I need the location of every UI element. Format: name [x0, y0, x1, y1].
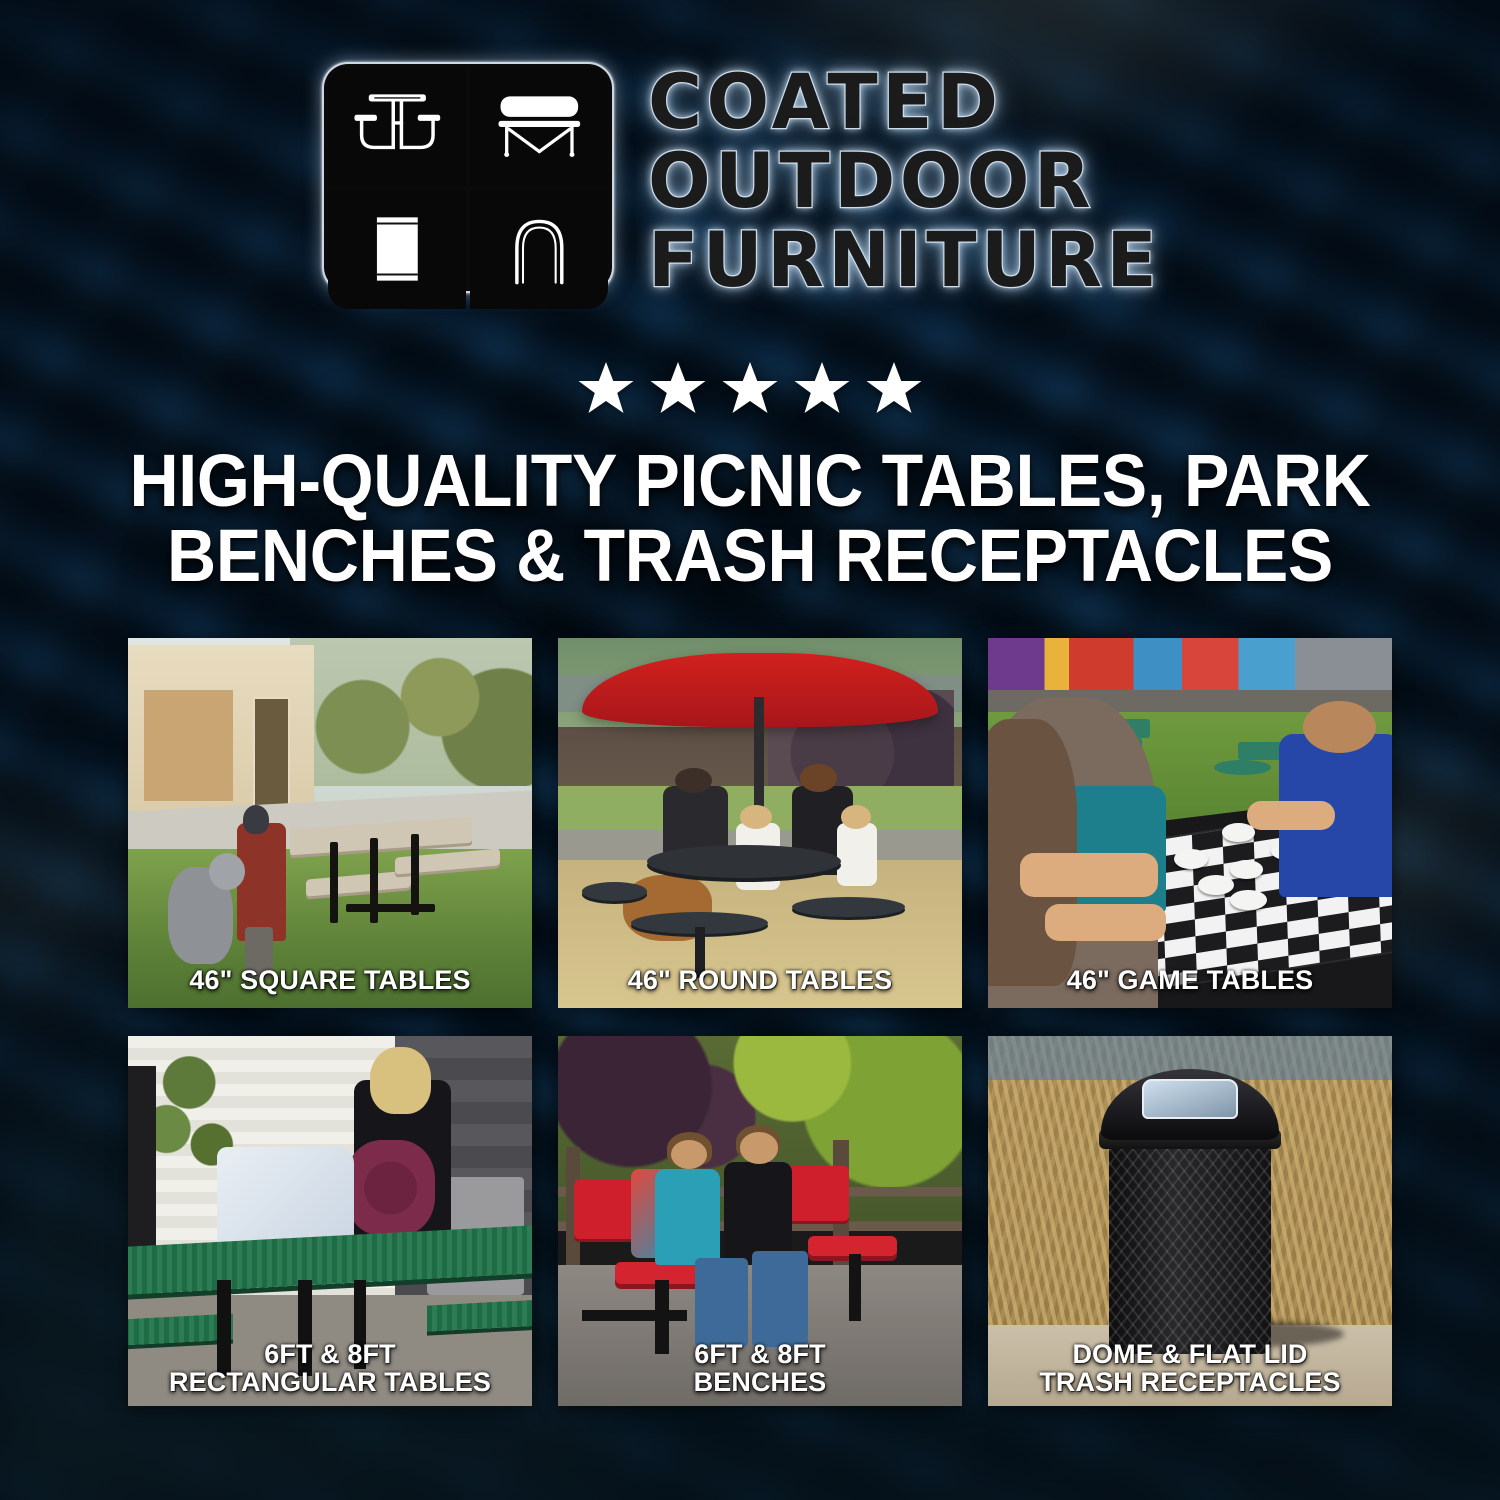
trash-receptacle-icon: [328, 191, 466, 310]
product-caption-round-tables: 46" ROUND TABLES: [558, 966, 962, 994]
star-icon: [863, 358, 925, 418]
caption-line-1: 46" SQUARE TABLES: [189, 965, 470, 995]
caption-line-1: 46" GAME TABLES: [1067, 965, 1313, 995]
bike-rack-arch-icon: [470, 191, 608, 310]
caption-line-2: RECTANGULAR TABLES: [136, 1368, 524, 1396]
star-icon: [719, 358, 781, 418]
product-card-trash-receptacles[interactable]: DOME & FLAT LID TRASH RECEPTACLES: [988, 1036, 1392, 1406]
product-caption-trash-receptacles: DOME & FLAT LID TRASH RECEPTACLES: [988, 1340, 1392, 1396]
brand-name-line-2: OUTDOOR: [648, 145, 1161, 218]
brand-name-line-1: COATED: [648, 66, 1161, 139]
product-photo-game-tables: [988, 638, 1392, 1008]
product-photo-square-tables: [128, 638, 532, 1008]
product-card-square-tables[interactable]: 46" SQUARE TABLES: [128, 638, 532, 1008]
brand-wordmark: COATED OUTDOOR FURNITURE: [648, 62, 1177, 303]
caption-line-1: 46" ROUND TABLES: [628, 965, 893, 995]
page-title: HIGH-QUALITY PICNIC TABLES, PARK BENCHES…: [60, 443, 1440, 594]
caption-line-1: 6FT & 8FT: [694, 1339, 825, 1369]
company-logo-mark: [322, 62, 614, 293]
product-card-benches[interactable]: 6FT & 8FT BENCHES: [558, 1036, 962, 1406]
caption-line-1: 6FT & 8FT: [264, 1339, 395, 1369]
product-caption-game-tables: 46" GAME TABLES: [988, 966, 1392, 994]
product-card-game-tables[interactable]: 46" GAME TABLES: [988, 638, 1392, 1008]
caption-line-1: DOME & FLAT LID: [1072, 1339, 1307, 1369]
star-icon: [575, 358, 637, 418]
bench-icon: [470, 68, 608, 187]
product-photo-round-tables: [558, 638, 962, 1008]
product-card-round-tables[interactable]: 46" ROUND TABLES: [558, 638, 962, 1008]
brand-name-line-3: FURNITURE: [648, 224, 1161, 297]
star-rating: [0, 358, 1500, 418]
star-icon: [791, 358, 853, 418]
picnic-table-icon: [328, 68, 466, 187]
brand-header: COATED OUTDOOR FURNITURE: [0, 62, 1500, 303]
star-icon: [647, 358, 709, 418]
product-grid: 46" SQUARE TABLES: [128, 638, 1396, 1406]
promo-banner: COATED OUTDOOR FURNITURE HIGH-QUALITY PI…: [0, 0, 1500, 1500]
product-card-rectangular-tables[interactable]: 6FT & 8FT RECTANGULAR TABLES: [128, 1036, 532, 1406]
headline-line-2: BENCHES & TRASH RECEPTACLES: [60, 518, 1440, 593]
caption-line-2: TRASH RECEPTACLES: [996, 1368, 1384, 1396]
product-caption-rectangular-tables: 6FT & 8FT RECTANGULAR TABLES: [128, 1340, 532, 1396]
product-caption-benches: 6FT & 8FT BENCHES: [558, 1340, 962, 1396]
caption-line-2: BENCHES: [566, 1368, 954, 1396]
headline-line-1: HIGH-QUALITY PICNIC TABLES, PARK: [60, 443, 1440, 518]
product-caption-square-tables: 46" SQUARE TABLES: [128, 966, 532, 994]
